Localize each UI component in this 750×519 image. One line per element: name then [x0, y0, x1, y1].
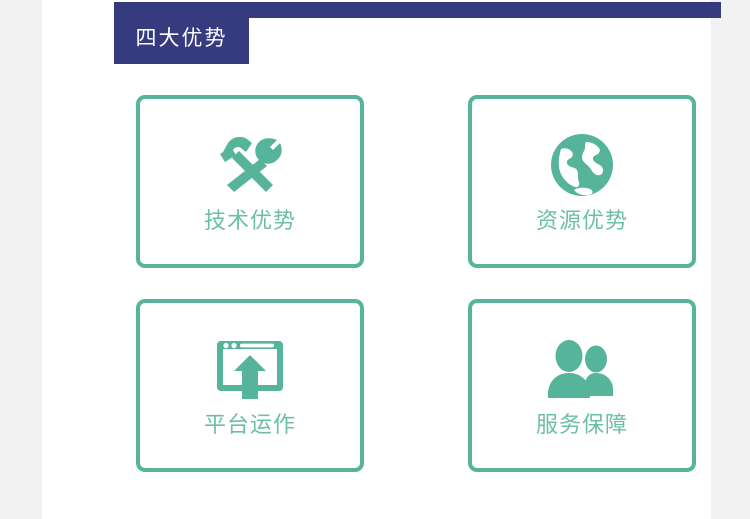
section-title-text: 四大优势	[136, 28, 228, 49]
content-panel: 四大优势	[42, 0, 711, 519]
hammer-wrench-icon	[214, 132, 286, 198]
section-title-badge: 四大优势	[114, 12, 249, 64]
advantage-card-service[interactable]: 服务保障	[468, 299, 696, 472]
advantage-card-label: 资源优势	[536, 210, 628, 232]
advantage-card-label: 平台运作	[204, 414, 296, 436]
browser-upload-icon	[214, 336, 286, 402]
page-root: 四大优势	[0, 0, 750, 519]
advantage-card-resources[interactable]: 资源优势	[468, 95, 696, 268]
advantages-card-grid: 技术优势	[136, 95, 697, 472]
advantage-card-platform[interactable]: 平台运作	[136, 299, 364, 472]
globe-icon	[546, 132, 618, 198]
advantage-card-label: 服务保障	[536, 414, 628, 436]
two-users-icon	[546, 336, 618, 402]
advantage-card-technology[interactable]: 技术优势	[136, 95, 364, 268]
advantage-card-label: 技术优势	[204, 210, 296, 232]
